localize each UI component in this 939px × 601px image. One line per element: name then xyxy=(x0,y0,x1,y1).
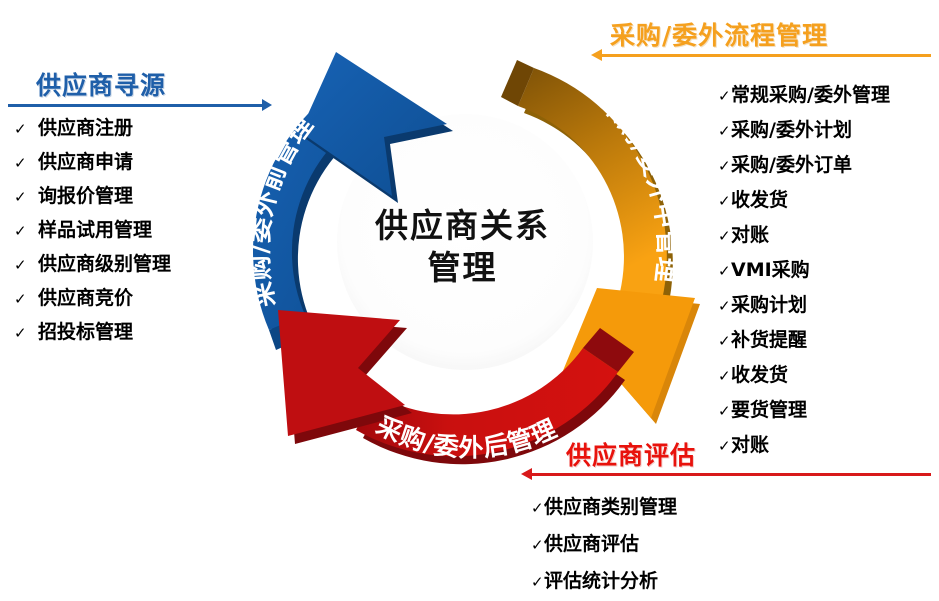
sourcing-item-label: 供应商竞价 xyxy=(38,282,133,315)
check-icon: ✓ xyxy=(14,113,38,146)
process-item-label: 采购/委外订单 xyxy=(731,148,852,182)
sourcing-item[interactable]: ✓供应商级别管理 xyxy=(14,248,171,282)
evaluation-item[interactable]: ✓供应商类别管理 xyxy=(531,489,677,526)
check-icon: ✓ xyxy=(14,317,38,350)
process-section-header: 采购/委外流程管理 xyxy=(610,16,828,52)
process-item-label: 对账 xyxy=(731,428,769,462)
sourcing-item[interactable]: ✓供应商注册 xyxy=(14,112,171,146)
process-item-label: 补货提醒 xyxy=(731,323,807,357)
check-icon: ✓ xyxy=(718,149,731,183)
evaluation-section-header: 供应商评估 xyxy=(566,436,696,472)
check-icon: ✓ xyxy=(14,181,38,214)
process-arrow-icon xyxy=(591,49,602,61)
evaluation-item[interactable]: ✓评估统计分析 xyxy=(531,563,677,600)
process-item[interactable]: ✓VMI采购 xyxy=(718,253,890,288)
sourcing-arrow-icon xyxy=(262,99,272,111)
process-item[interactable]: ✓补货提醒 xyxy=(718,323,890,358)
evaluation-item[interactable]: ✓供应商评估 xyxy=(531,526,677,563)
evaluation-item-label: 供应商类别管理 xyxy=(544,489,677,525)
check-icon: ✓ xyxy=(718,359,731,393)
sourcing-item-label: 招投标管理 xyxy=(38,316,133,349)
process-item[interactable]: ✓对账 xyxy=(718,428,890,463)
sourcing-item[interactable]: ✓供应商竞价 xyxy=(14,282,171,316)
evaluation-arrow-icon xyxy=(521,468,532,480)
check-icon: ✓ xyxy=(14,249,38,282)
center-title-line2: 管理 xyxy=(345,247,580,289)
check-icon: ✓ xyxy=(718,114,731,148)
sourcing-underline xyxy=(8,104,266,107)
process-item[interactable]: ✓收发货 xyxy=(718,183,890,218)
sourcing-item-label: 样品试用管理 xyxy=(38,214,152,247)
sourcing-item-list: ✓供应商注册✓供应商申请✓询报价管理✓样品试用管理✓供应商级别管理✓供应商竞价✓… xyxy=(14,112,171,350)
process-item-label: 要货管理 xyxy=(731,393,807,427)
sourcing-item-label: 询报价管理 xyxy=(38,180,133,213)
check-icon: ✓ xyxy=(718,324,731,358)
check-icon: ✓ xyxy=(14,147,38,180)
check-icon: ✓ xyxy=(718,394,731,428)
process-item-label: 采购计划 xyxy=(731,288,807,322)
check-icon: ✓ xyxy=(14,283,38,316)
process-underline xyxy=(601,54,931,57)
process-item[interactable]: ✓采购计划 xyxy=(718,288,890,323)
check-icon: ✓ xyxy=(718,254,731,288)
check-icon: ✓ xyxy=(14,215,38,248)
check-icon: ✓ xyxy=(718,219,731,253)
evaluation-underline xyxy=(531,473,931,476)
process-item[interactable]: ✓收发货 xyxy=(718,358,890,393)
process-item[interactable]: ✓采购/委外计划 xyxy=(718,113,890,148)
center-title-line1: 供应商关系 xyxy=(345,205,580,247)
check-icon: ✓ xyxy=(718,79,731,113)
sourcing-item-label: 供应商级别管理 xyxy=(38,248,171,281)
process-item-label: 对账 xyxy=(731,218,769,252)
process-item[interactable]: ✓对账 xyxy=(718,218,890,253)
process-item[interactable]: ✓采购/委外订单 xyxy=(718,148,890,183)
center-title: 供应商关系 管理 xyxy=(345,205,580,289)
check-icon: ✓ xyxy=(718,429,731,463)
sourcing-item-label: 供应商申请 xyxy=(38,146,133,179)
check-icon: ✓ xyxy=(718,184,731,218)
sourcing-item-label: 供应商注册 xyxy=(38,112,133,145)
process-item-label: 收发货 xyxy=(731,183,788,217)
process-item-label: VMI采购 xyxy=(731,253,810,287)
process-item-label: 收发货 xyxy=(731,358,788,392)
evaluation-item-list: ✓供应商类别管理✓供应商评估✓评估统计分析 xyxy=(531,489,677,600)
process-item-list: ✓常规采购/委外管理✓采购/委外计划✓采购/委外订单✓收发货✓对账✓VMI采购✓… xyxy=(718,78,890,463)
sourcing-item[interactable]: ✓样品试用管理 xyxy=(14,214,171,248)
sourcing-item[interactable]: ✓招投标管理 xyxy=(14,316,171,350)
check-icon: ✓ xyxy=(718,289,731,323)
sourcing-item[interactable]: ✓询报价管理 xyxy=(14,180,171,214)
check-icon: ✓ xyxy=(531,564,544,600)
process-item[interactable]: ✓要货管理 xyxy=(718,393,890,428)
process-item-label: 采购/委外计划 xyxy=(731,113,852,147)
sourcing-item[interactable]: ✓供应商申请 xyxy=(14,146,171,180)
check-icon: ✓ xyxy=(531,527,544,563)
evaluation-item-label: 供应商评估 xyxy=(544,526,639,562)
evaluation-item-label: 评估统计分析 xyxy=(544,563,658,599)
check-icon: ✓ xyxy=(531,490,544,526)
diagram-canvas: 采购/委外前管理 采购/委外中管理 采购/委外后管理 xyxy=(0,0,939,601)
process-item[interactable]: ✓常规采购/委外管理 xyxy=(718,78,890,113)
process-item-label: 常规采购/委外管理 xyxy=(731,78,890,112)
sourcing-section-header: 供应商寻源 xyxy=(36,66,166,102)
